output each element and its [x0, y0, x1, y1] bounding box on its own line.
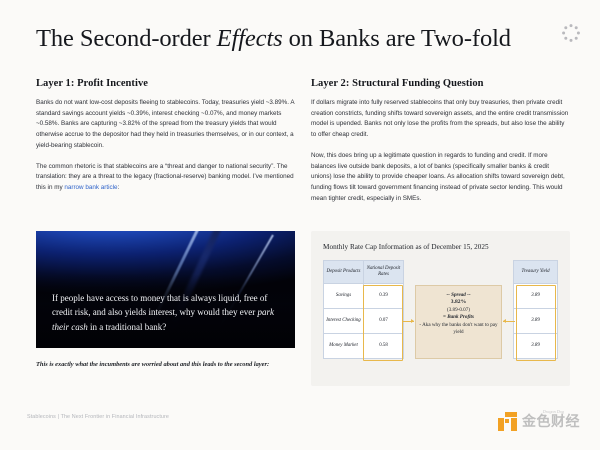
spread-bank-profits-label: = Bank Profits [416, 314, 501, 321]
quote-before-emphasis: If people have access to money that is a… [52, 293, 267, 317]
col-header-treasury-yield: Treasury Yield [514, 261, 558, 284]
cell-treasury-yield-3: 3.89 [514, 334, 558, 359]
spread-callout-box: -- Spread -- 3.82% (3.89-0.07) = Bank Pr… [415, 285, 502, 359]
table-row: 3.89 [514, 284, 558, 309]
logo-shape-dot [505, 419, 509, 423]
title-part-1: The Second-order [36, 25, 217, 52]
table-header-row: Treasury Yield [514, 261, 558, 284]
table-header-row: Deposit Products National Deposit Rates [324, 261, 404, 284]
treasury-yield-table: Treasury Yield 3.89 3.89 3.89 [513, 260, 558, 359]
rate-cap-diagram-panel: Monthly Rate Cap Information as of Decem… [311, 231, 570, 386]
logo-shape-left [498, 418, 504, 431]
cell-rate-money-market: 0.58 [364, 334, 404, 359]
table-row: 3.89 [514, 309, 558, 334]
page-title: The Second-order Effects on Banks are Tw… [36, 24, 556, 54]
closing-note: This is exactly what the incumbents are … [36, 360, 295, 370]
spread-value: 3.82% [416, 299, 501, 306]
layer-2-heading: Layer 2: Structural Funding Question [311, 78, 570, 89]
title-part-2: on Banks are Two-fold [283, 25, 511, 52]
slide-canvas: The Second-order Effects on Banks are Tw… [0, 0, 600, 450]
hero-quote-text: If people have access to money that is a… [52, 291, 281, 334]
spread-label: -- Spread -- [416, 292, 501, 299]
layer-1-paragraph-1: Banks do not want low-cost deposits flee… [36, 98, 295, 152]
left-column: Layer 1: Profit Incentive Banks do not w… [36, 78, 295, 202]
layer-2-paragraph-2: Now, this does bring up a legitimate que… [311, 151, 570, 205]
layer-1-paragraph-2: The common rhetoric is that stablecoins … [36, 162, 295, 194]
deposit-rates-table: Deposit Products National Deposit Rates … [323, 260, 404, 359]
jinse-logo-icon [498, 412, 517, 431]
diagram-title: Monthly Rate Cap Information as of Decem… [323, 243, 489, 251]
logo-shape-right [511, 418, 517, 431]
arrow-left-icon [503, 319, 506, 323]
title-emphasis: Effects [217, 25, 283, 52]
cell-rate-interest-checking: 0.07 [364, 309, 404, 334]
layer-2-paragraph-1: If dollars migrate into fully reserved s… [311, 98, 570, 141]
col-header-deposit-products: Deposit Products [324, 261, 364, 284]
table-row: Interest Checking 0.07 [324, 309, 404, 334]
paragraph-2-text-after: : [118, 184, 120, 191]
dotted-ring-icon [561, 23, 581, 43]
logo-shape-top [505, 412, 517, 417]
cell-product-savings: Savings [324, 284, 364, 309]
narrow-bank-article-link[interactable]: narrow bank article [64, 184, 117, 191]
table-row: Savings 0.39 [324, 284, 404, 309]
cell-rate-savings: 0.39 [364, 284, 404, 309]
table-row: Money Market 0.58 [324, 334, 404, 359]
cell-product-interest-checking: Interest Checking [324, 309, 364, 334]
cell-treasury-yield-1: 3.89 [514, 284, 558, 309]
cell-product-money-market: Money Market [324, 334, 364, 359]
spread-explanation: - Aka why the banks don't want to pay yi… [416, 322, 501, 337]
right-column: Layer 2: Structural Funding Question If … [311, 78, 570, 214]
col-header-national-deposit-rates: National Deposit Rates [364, 261, 404, 284]
footer-source-text: Stablecoins | The Next Frontier in Finan… [27, 414, 169, 420]
layer-1-heading: Layer 1: Profit Incentive [36, 78, 295, 89]
cell-treasury-yield-2: 3.89 [514, 309, 558, 334]
brand-chinese-name: 金色财经 [522, 414, 580, 430]
hero-quote-image: If people have access to money that is a… [36, 231, 295, 348]
arrow-right-icon [411, 319, 414, 323]
table-row: 3.89 [514, 334, 558, 359]
spread-calculation: (3.89-0.07) [416, 307, 501, 314]
brand-logo: 金色财经 [498, 412, 580, 431]
quote-after-emphasis: in a traditional bank? [88, 322, 166, 332]
